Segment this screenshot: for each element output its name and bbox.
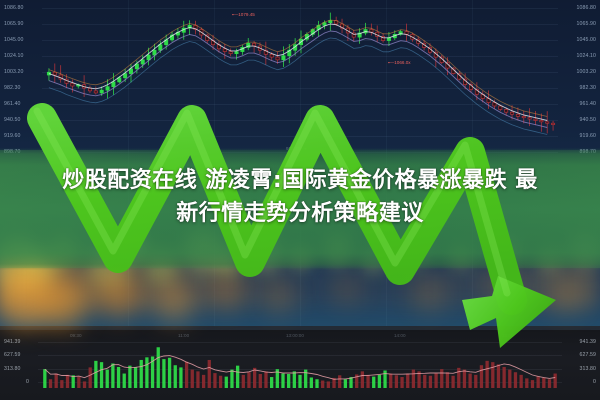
stock-banner-image: 1086.801065.901045.001024.101003.20982.3… [0,0,600,400]
headline-line-2: 新行情走势分析策略建议 [0,197,600,230]
headline-text: 炒股配资在线 游凌霄:国际黄金价格暴涨暴跌 最 新行情走势分析策略建议 [0,164,600,230]
headline-line-1: 炒股配资在线 游凌霄:国际黄金价格暴涨暴跌 最 [0,164,600,197]
